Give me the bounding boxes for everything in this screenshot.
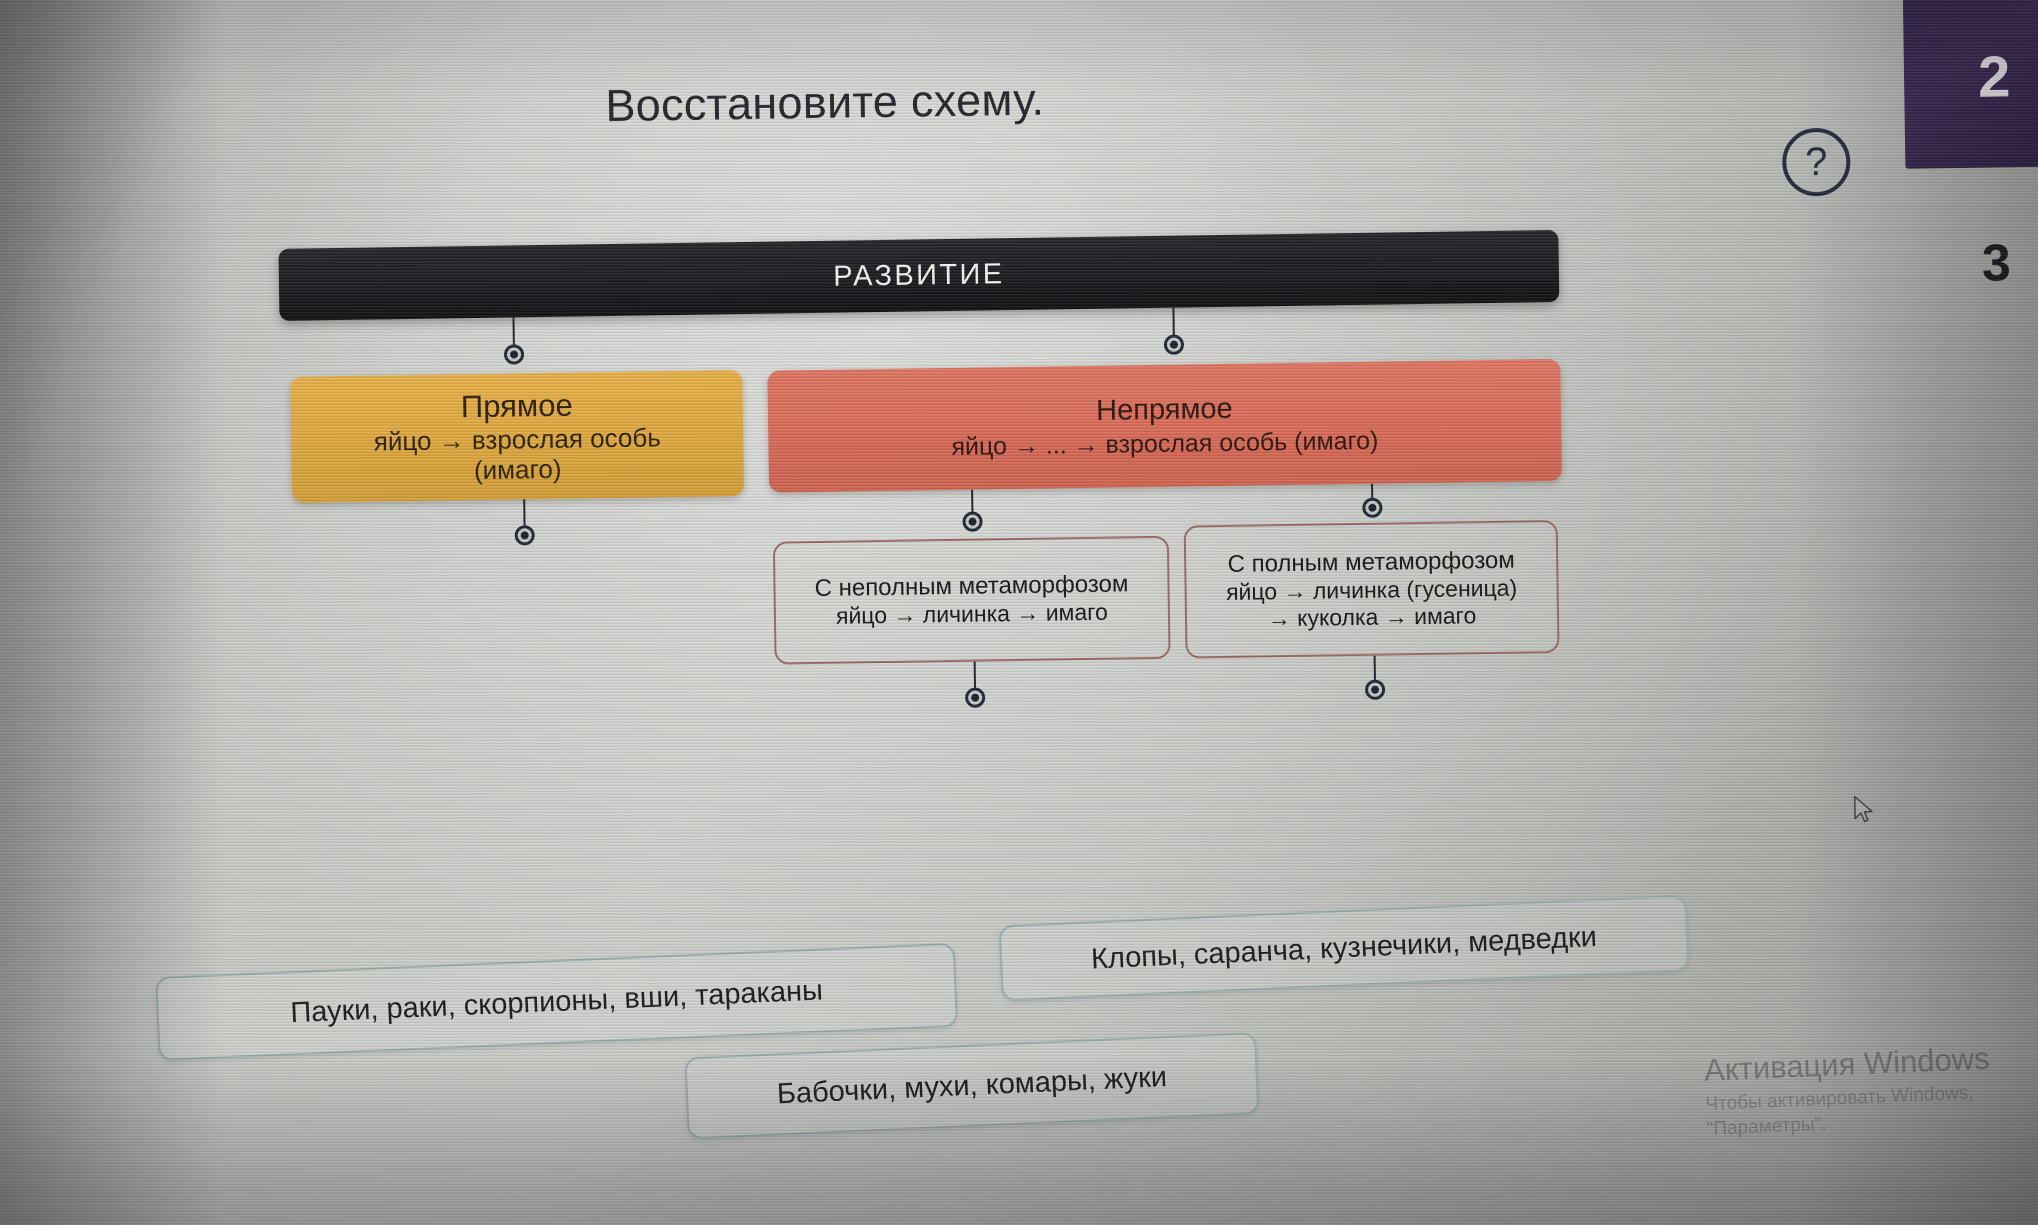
connector-dot-indirect-incomplete[interactable]	[962, 512, 982, 532]
scheme-node-direct-title: Прямое	[461, 388, 573, 426]
drop-slot-incomplete[interactable]	[965, 688, 985, 708]
scheme-node-indirect-title: Непрямое	[1096, 392, 1233, 427]
drop-slot-direct[interactable]	[515, 525, 535, 545]
connector-root-to-direct	[512, 317, 514, 347]
scheme-node-direct-formula-line2: (имаго)	[474, 454, 562, 484]
connector-incomplete-to-slot	[974, 662, 976, 690]
scheme-node-complete-title: С полным метаморфозом	[1227, 546, 1515, 579]
scheme-node-complete-metamorphosis: С полным метаморфозом яйцо → личинка (гу…	[1184, 520, 1560, 659]
page-title: Восстановите схему.	[605, 74, 1045, 133]
scheme-node-indirect-formula-line1: яйцо → ... → взрослая особь (имаго)	[951, 426, 1378, 461]
connector-dot-root-indirect[interactable]	[1164, 335, 1184, 355]
answer-chip-hemimetabola[interactable]: Клопы, саранча, кузнечики, медведки	[999, 895, 1690, 1002]
side-panel-badge-number: 2	[1978, 43, 2011, 110]
scheme-node-direct-formula-line1: яйцо → взрослая особь	[374, 424, 661, 457]
connector-dot-indirect-complete[interactable]	[1362, 498, 1382, 518]
scheme-root-node: РАЗВИТИЕ	[278, 230, 1559, 321]
scheme-node-indirect: Непрямое яйцо → ... → взрослая особь (им…	[767, 359, 1562, 493]
app-surface: Восстановите схему. ? 2 3 РАЗВИТИЕ Прямо…	[0, 0, 2038, 1225]
answer-chip-arthropods[interactable]: Пауки, раки, скорпионы, вши, тараканы	[155, 943, 958, 1061]
connector-dot-root-direct[interactable]	[504, 344, 524, 364]
scheme-root-label: РАЗВИТИЕ	[833, 258, 1005, 294]
mouse-cursor-icon	[1853, 795, 1875, 825]
side-panel-next-number: 3	[1981, 233, 2011, 293]
answer-chip-arthropods-label: Пауки, раки, скорпионы, вши, тараканы	[290, 974, 824, 1030]
connector-complete-to-slot	[1374, 656, 1376, 682]
answer-chip-holometabola-label: Бабочки, мухи, комары, жуки	[776, 1061, 1167, 1111]
connector-root-to-indirect	[1172, 308, 1174, 338]
scheme-node-incomplete-metamorphosis: С неполным метаморфозом яйцо → личинка →…	[773, 536, 1171, 665]
help-icon[interactable]: ?	[1782, 128, 1851, 197]
drop-slot-complete[interactable]	[1365, 680, 1385, 700]
side-panel	[1902, 0, 2038, 169]
answer-chip-holometabola[interactable]: Бабочки, мухи, комары, жуки	[684, 1032, 1259, 1139]
answer-chip-hemimetabola-label: Клопы, саранча, кузнечики, медведки	[1090, 920, 1597, 975]
screenshot-root: Восстановите схему. ? 2 3 РАЗВИТИЕ Прямо…	[0, 0, 2038, 1225]
windows-activation-watermark: Активация Windows Чтобы активировать Win…	[1703, 1038, 1992, 1143]
scheme-node-incomplete-formula-line1: яйцо → личинка → имаго	[836, 599, 1108, 630]
scheme-node-complete-formula-line2: → куколка → имаго	[1268, 602, 1477, 632]
connector-direct-to-slot	[523, 499, 525, 527]
scheme-node-direct: Прямое яйцо → взрослая особь (имаго)	[290, 370, 744, 503]
